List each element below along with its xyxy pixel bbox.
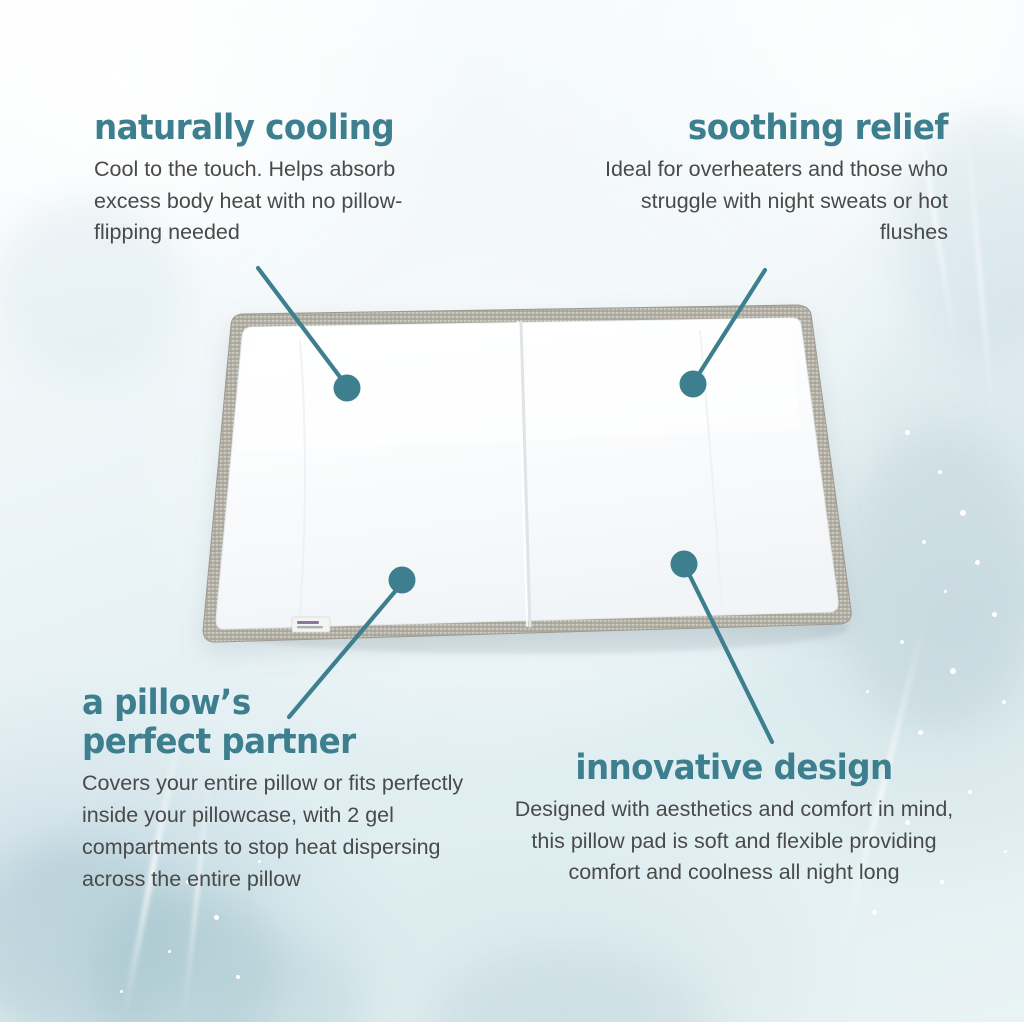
callout-perfect-partner: a pillow’s perfect partner Covers your e…: [82, 684, 474, 896]
callout-naturally-cooling: naturally cooling Cool to the touch. Hel…: [94, 110, 424, 249]
callout-heading-line-2: perfect partner: [82, 722, 356, 762]
callout-soothing-relief: soothing relief Ideal for overheaters an…: [600, 110, 948, 249]
callout-heading-line-1: a pillow’s: [82, 683, 251, 723]
callout-body-naturally-cooling: Cool to the touch. Helps absorb excess b…: [94, 154, 424, 249]
callout-body-perfect-partner: Covers your entire pillow or fits perfec…: [82, 768, 474, 895]
callout-heading-perfect-partner: a pillow’s perfect partner: [82, 684, 447, 762]
callout-innovative-design: innovative design Designed with aestheti…: [508, 750, 960, 889]
infographic-canvas: naturally cooling Cool to the touch. Hel…: [0, 0, 1024, 1022]
callout-body-soothing-relief: Ideal for overheaters and those who stru…: [600, 154, 948, 249]
callout-heading-innovative-design: innovative design: [524, 750, 944, 788]
callout-heading-soothing-relief: soothing relief: [624, 110, 948, 148]
callout-heading-naturally-cooling: naturally cooling: [94, 110, 401, 148]
callout-body-innovative-design: Designed with aesthetics and comfort in …: [508, 794, 960, 889]
